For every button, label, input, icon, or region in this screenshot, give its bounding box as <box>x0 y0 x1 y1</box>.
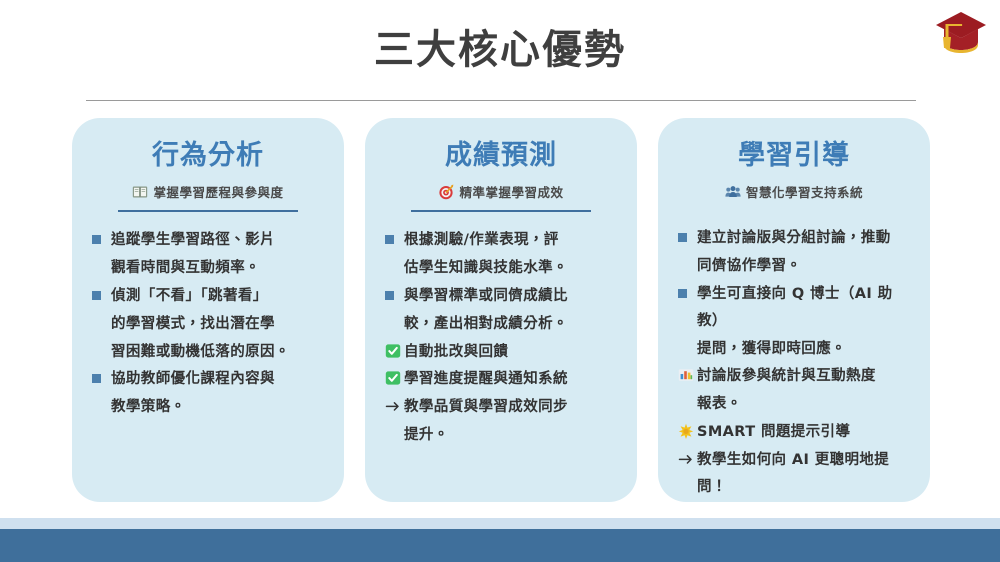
list-item-text: 估學生知識與技能水準。 <box>404 255 619 282</box>
card-bullet-list: 根據測驗/作業表現，評 估學生知識與技能水準。 與學習標準或同儕成績比 較，產出… <box>381 227 621 450</box>
list-item: 的學習模式，找出潛在學 <box>92 311 326 338</box>
footer-bar <box>0 529 1000 562</box>
bar-chart-icon <box>678 363 697 383</box>
list-item-text: 的學習模式，找出潛在學 <box>111 311 326 338</box>
card-divider <box>411 210 591 212</box>
card-learning-guidance: 學習引導 智慧化學習支持系統 建立討論版與分組討論，推動 同 <box>658 118 930 502</box>
bullet-square-icon <box>92 283 111 300</box>
list-item-text: 教學生如何向 AI 更聰明地提問！ <box>697 447 912 501</box>
list-item-text: 教學品質與學習成效同步 <box>404 394 619 421</box>
card-subtitle-text: 掌握學習歷程與參與度 <box>153 182 283 201</box>
list-item-text: SMART 問題提示引導 <box>697 419 912 446</box>
list-item: 自動批改與回饋 <box>385 339 619 366</box>
list-item: 協助教師優化課程內容與 <box>92 366 326 393</box>
list-item-text: 追蹤學生學習路徑、影片 <box>111 227 326 254</box>
list-item-text: 教學策略。 <box>111 394 326 421</box>
list-item: 教學生如何向 AI 更聰明地提問！ <box>678 447 912 501</box>
list-item: SMART 問題提示引導 <box>678 419 912 446</box>
target-icon <box>438 184 454 200</box>
card-title: 成績預測 <box>381 140 621 172</box>
list-item: 提升。 <box>385 422 619 449</box>
cards-row: 行為分析 掌握學習歷程與參與度 <box>72 118 930 502</box>
list-item-text: 報表。 <box>697 391 912 418</box>
bullet-square-icon <box>678 225 697 242</box>
list-item: 報表。 <box>678 391 912 418</box>
bullet-none <box>678 253 697 270</box>
footer-accent-bar <box>0 518 1000 529</box>
card-subtitle: 掌握學習歷程與參與度 <box>88 182 328 201</box>
list-item-text: 協助教師優化課程內容與 <box>111 366 326 393</box>
list-item-text: 與學習標準或同儕成績比 <box>404 283 619 310</box>
list-item: 教學品質與學習成效同步 <box>385 394 619 421</box>
list-item-text: 較，產出相對成績分析。 <box>404 311 619 338</box>
arrow-right-icon <box>385 394 404 414</box>
list-item: 較，產出相對成績分析。 <box>385 311 619 338</box>
list-item-text: 學習進度提醒與通知系統 <box>404 366 619 393</box>
bullet-square-icon <box>92 227 111 244</box>
bullet-none <box>385 311 404 328</box>
list-item-text: 提問，獲得即時回應。 <box>697 336 912 363</box>
bullet-square-icon <box>92 366 111 383</box>
card-subtitle-text: 智慧化學習支持系統 <box>746 182 863 201</box>
list-item: 估學生知識與技能水準。 <box>385 255 619 282</box>
list-item: 觀看時間與互動頻率。 <box>92 255 326 282</box>
list-item: 教學策略。 <box>92 394 326 421</box>
bullet-square-icon <box>385 283 404 300</box>
card-subtitle: 精準掌握學習成效 <box>381 182 621 201</box>
bullet-none <box>385 422 404 439</box>
bullet-none <box>678 336 697 353</box>
card-bullet-list: 追蹤學生學習路徑、影片 觀看時間與互動頻率。 偵測「不看」「跳著看」 的學習模式… <box>88 227 328 422</box>
bullet-none <box>92 394 111 411</box>
list-item: 與學習標準或同儕成績比 <box>385 283 619 310</box>
list-item-text: 自動批改與回饋 <box>404 339 619 366</box>
card-subtitle-text: 精準掌握學習成效 <box>459 182 563 201</box>
card-behavior-analysis: 行為分析 掌握學習歷程與參與度 <box>72 118 344 502</box>
list-item: 學習進度提醒與通知系統 <box>385 366 619 393</box>
bullet-none <box>92 339 111 356</box>
list-item: 學生可直接向 Q 博士（AI 助教） <box>678 281 912 335</box>
bullet-square-icon <box>678 281 697 298</box>
arrow-right-icon <box>678 447 697 467</box>
card-title: 學習引導 <box>674 140 914 172</box>
list-item-text: 建立討論版與分組討論，推動 <box>697 225 912 252</box>
list-item-text: 偵測「不看」「跳著看」 <box>111 283 326 310</box>
list-item: 根據測驗/作業表現，評 <box>385 227 619 254</box>
list-item: 追蹤學生學習路徑、影片 <box>92 227 326 254</box>
open-book-icon <box>132 184 148 200</box>
list-item: 討論版參與統計與互動熱度 <box>678 363 912 390</box>
list-item-text: 根據測驗/作業表現，評 <box>404 227 619 254</box>
title-divider <box>86 100 916 101</box>
list-item-text: 觀看時間與互動頻率。 <box>111 255 326 282</box>
card-subtitle: 智慧化學習支持系統 <box>674 182 914 201</box>
list-item-text: 討論版參與統計與互動熱度 <box>697 363 912 390</box>
check-box-icon <box>385 366 404 386</box>
list-item: 習困難或動機低落的原因。 <box>92 339 326 366</box>
people-group-icon <box>725 184 741 200</box>
list-item-text: 學生可直接向 Q 博士（AI 助教） <box>697 281 912 335</box>
card-divider <box>118 210 298 212</box>
slide-canvas: 三大核心優勢 行為分析 掌握 <box>0 0 1000 562</box>
bullet-none <box>92 255 111 272</box>
card-title: 行為分析 <box>88 140 328 172</box>
list-item: 偵測「不看」「跳著看」 <box>92 283 326 310</box>
bullet-square-icon <box>385 227 404 244</box>
bullet-none <box>678 391 697 408</box>
page-title: 三大核心優勢 <box>0 28 1000 72</box>
list-item: 建立討論版與分組討論，推動 <box>678 225 912 252</box>
bullet-none <box>92 311 111 328</box>
list-item-text: 提升。 <box>404 422 619 449</box>
list-item: 同儕協作學習。 <box>678 253 912 280</box>
bullet-none <box>385 255 404 272</box>
check-box-icon <box>385 339 404 359</box>
list-item-text: 習困難或動機低落的原因。 <box>111 339 326 366</box>
list-item: 提問，獲得即時回應。 <box>678 336 912 363</box>
card-grade-prediction: 成績預測 精準掌握學習成效 根據測驗/作業表現，評 估學生知 <box>365 118 637 502</box>
list-item-text: 同儕協作學習。 <box>697 253 912 280</box>
card-bullet-list: 建立討論版與分組討論，推動 同儕協作學習。 學生可直接向 Q 博士（AI 助教）… <box>674 225 914 501</box>
sparkle-star-icon <box>678 419 697 439</box>
